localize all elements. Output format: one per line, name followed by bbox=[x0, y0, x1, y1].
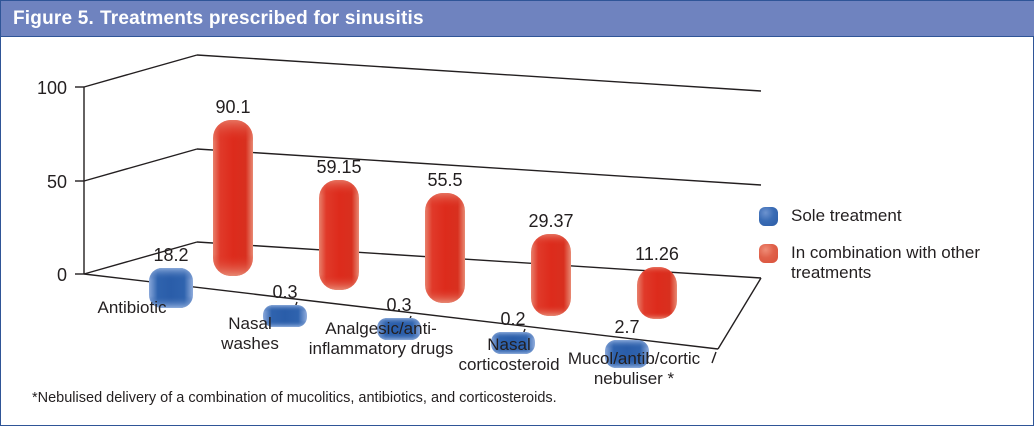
cat-label-antibiotic: Antibiotic bbox=[98, 298, 167, 317]
gridline-50-back bbox=[197, 149, 761, 185]
legend-label-in-combination-text: In combination with other treatments bbox=[791, 243, 980, 282]
chart-plot-area: 100 50 0 bbox=[1, 37, 1034, 426]
cat-label-nasal-washes-2: washes bbox=[220, 334, 279, 353]
bar-red-analgesic bbox=[425, 193, 465, 303]
y-axis-labels: 100 50 0 bbox=[37, 78, 67, 285]
figure-header-text: Figure 5.Treatments prescribed for sinus… bbox=[13, 8, 424, 30]
y-tick-label-0: 0 bbox=[57, 265, 67, 285]
legend-label-in-combination: In combination with other treatments bbox=[791, 243, 1027, 283]
bar-red-antibiotic bbox=[213, 120, 253, 276]
floor-right-edge bbox=[718, 278, 761, 349]
legend-swatch-sole-treatment bbox=[759, 207, 778, 226]
bar-red-mucol-nebuliser bbox=[637, 267, 677, 319]
gridline-100-back bbox=[197, 55, 761, 91]
gridline-50-depth bbox=[84, 149, 197, 181]
value-label-blue-1: 0.3 bbox=[272, 282, 297, 302]
value-label-blue-3: 0.2 bbox=[500, 309, 525, 329]
y-tick-label-100: 100 bbox=[37, 78, 67, 98]
figure-number: Figure 5. bbox=[13, 8, 94, 29]
cat-label-nasal-washes-1: Nasal bbox=[228, 314, 271, 333]
y-tick-label-50: 50 bbox=[47, 172, 67, 192]
cat-label-analgesic-2: inflammatory drugs bbox=[309, 339, 454, 358]
cat-label-analgesic-1: Analgesic/anti- bbox=[325, 319, 437, 338]
bar-chart-svg: 100 50 0 bbox=[1, 37, 1034, 426]
gridline-100-depth bbox=[84, 55, 197, 87]
value-label-blue-2: 0.3 bbox=[386, 295, 411, 315]
figure-footnote: *Nebulised delivery of a combination of … bbox=[32, 390, 557, 406]
cat-label-mucol-1: Mucol/antib/cortic bbox=[568, 349, 701, 368]
cat-label-nasal-cortico-1: Nasal bbox=[487, 335, 530, 354]
page-title: Treatments prescribed for sinusitis bbox=[94, 8, 424, 29]
value-label-red-0: 90.1 bbox=[215, 97, 250, 117]
figure-header: Figure 5.Treatments prescribed for sinus… bbox=[1, 1, 1034, 37]
value-label-red-4: 11.26 bbox=[635, 244, 679, 264]
cat-label-nasal-cortico-2: corticosteroid bbox=[458, 355, 559, 374]
cat-label-mucol-2: nebuliser * bbox=[594, 369, 675, 388]
value-label-red-2: 55.5 bbox=[427, 170, 462, 190]
bar-red-nasal-washes bbox=[319, 180, 359, 290]
category-tick-6 bbox=[712, 352, 716, 363]
value-label-red-1: 59.15 bbox=[316, 157, 361, 177]
value-label-blue-0: 18.2 bbox=[153, 245, 188, 265]
legend-label-sole-treatment: Sole treatment bbox=[791, 206, 902, 226]
legend-swatch-in-combination bbox=[759, 244, 778, 263]
value-label-red-3: 29.37 bbox=[528, 211, 573, 231]
value-label-blue-4: 2.7 bbox=[614, 317, 639, 337]
figure-container: Figure 5.Treatments prescribed for sinus… bbox=[0, 0, 1034, 426]
bar-red-nasal-corticosteroid bbox=[531, 234, 571, 316]
